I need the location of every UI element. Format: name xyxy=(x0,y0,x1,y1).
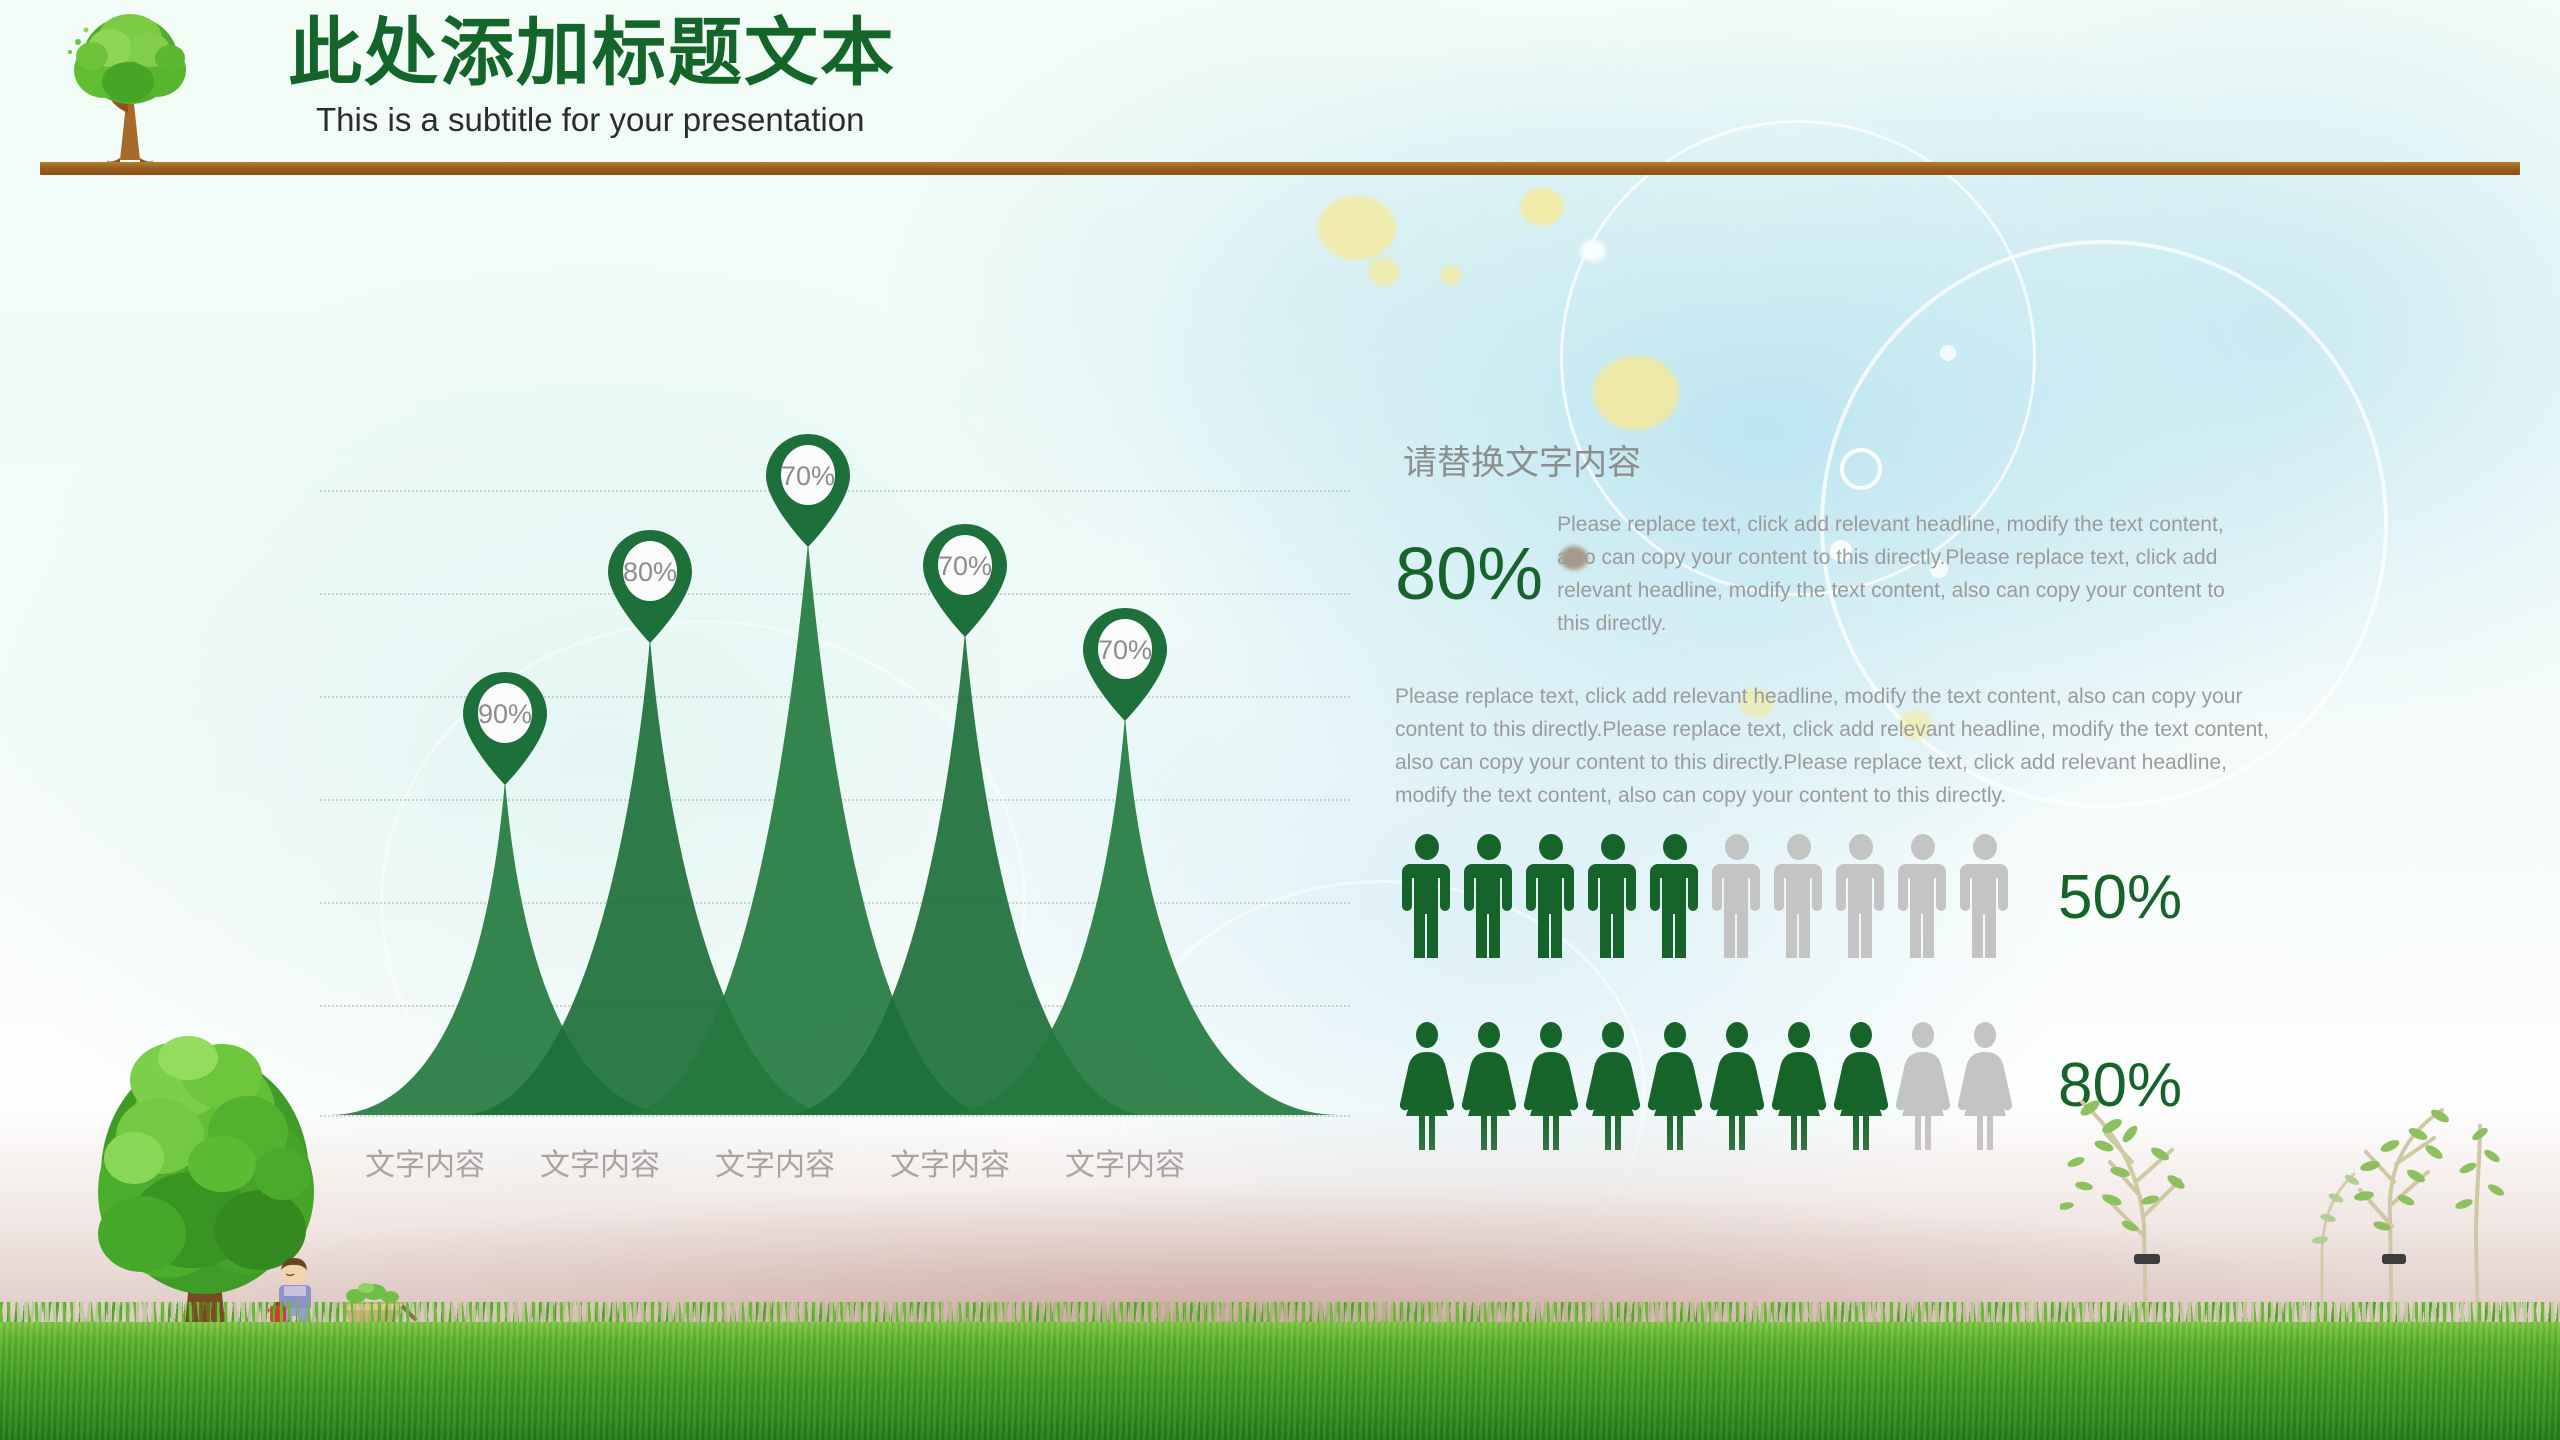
background-blob xyxy=(1440,265,1462,285)
highlight-paragraph: Please replace text, click add relevant … xyxy=(1557,508,2257,640)
sapling-icon xyxy=(2060,1076,2270,1336)
chart-marker-label: 70% xyxy=(919,520,1011,612)
pictograph-percent: 50% xyxy=(2058,867,2182,929)
body-paragraph: Please replace text, click add relevant … xyxy=(1395,680,2275,812)
background-blob xyxy=(1580,240,1606,262)
chart-marker-label: 70% xyxy=(1079,604,1171,696)
person-male-icon xyxy=(1832,834,1890,962)
person-male-icon xyxy=(1460,834,1518,962)
person-male-icon xyxy=(1398,834,1456,962)
chart-spikes xyxy=(320,490,1350,1120)
page-subtitle: This is a subtitle for your presentation xyxy=(316,100,896,140)
chart-marker-pin[interactable]: 90% xyxy=(459,668,551,786)
person-male-icon xyxy=(1894,834,1952,962)
person-male-icon xyxy=(1956,834,2014,962)
highlight-value: 80% xyxy=(1395,537,1543,611)
chart-marker-pin[interactable]: 70% xyxy=(1079,604,1171,722)
right-panel-heading: 请替换文字内容 xyxy=(1403,435,2305,484)
background-blob xyxy=(1318,196,1396,260)
background-blob xyxy=(1368,258,1400,286)
background-blob xyxy=(1593,356,1679,430)
pictograph-row: 50% xyxy=(1398,818,2398,978)
highlight-row: 80% Please replace text, click add relev… xyxy=(1395,508,2305,640)
spike-chart: 90% 80% 70% 70% xyxy=(320,490,1350,1120)
chart-marker-pin[interactable]: 70% xyxy=(919,520,1011,638)
chart-marker-pin[interactable]: 80% xyxy=(604,526,696,644)
page-title: 此处添加标题文本 xyxy=(288,12,896,94)
background-blob xyxy=(1520,188,1564,226)
slide-header: 此处添加标题文本 This is a subtitle for your pre… xyxy=(0,0,2560,178)
tree-icon xyxy=(58,8,208,168)
grass-strip xyxy=(0,1322,2560,1440)
pictograph-icons xyxy=(1398,834,2018,962)
chart-marker-label: 80% xyxy=(604,526,696,618)
chart-marker-pin[interactable]: 70% xyxy=(762,430,854,548)
person-male-icon xyxy=(1770,834,1828,962)
right-text-panel: 请替换文字内容 80% Please replace text, click a… xyxy=(1395,435,2305,812)
slide-root: 此处添加标题文本 This is a subtitle for your pre… xyxy=(0,0,2560,1440)
chart-marker-label: 90% xyxy=(459,668,551,760)
person-male-icon xyxy=(1708,834,1766,962)
background-dot xyxy=(1940,345,1956,361)
header-divider xyxy=(40,162,2520,175)
person-male-icon xyxy=(1522,834,1580,962)
person-male-icon xyxy=(1646,834,1704,962)
chart-marker-label: 70% xyxy=(762,430,854,522)
title-block: 此处添加标题文本 This is a subtitle for your pre… xyxy=(288,12,896,140)
person-male-icon xyxy=(1584,834,1642,962)
